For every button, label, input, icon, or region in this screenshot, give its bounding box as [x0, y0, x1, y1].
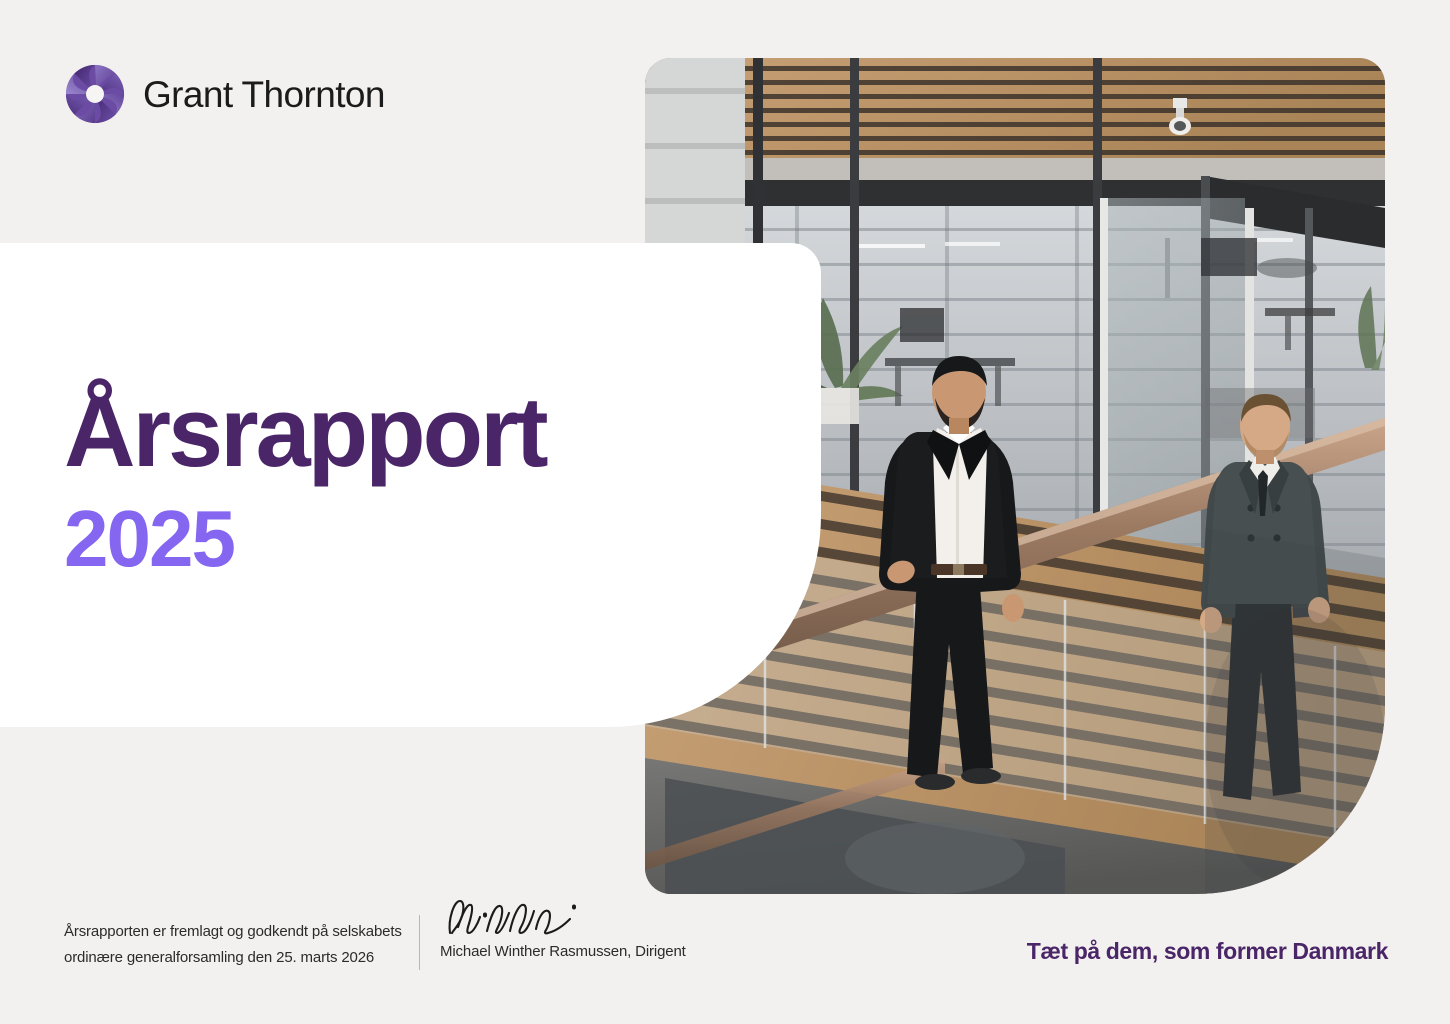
cover-page: Grant Thornton Årsrapport 2025 Årsrappor…: [0, 0, 1450, 1024]
brand-tagline: Tæt på dem, som former Danmark: [1027, 938, 1388, 965]
approval-statement: Årsrapporten er fremlagt og godkendt på …: [64, 919, 409, 972]
report-year: 2025: [64, 499, 684, 579]
approval-line-2: ordinære generalforsamling den 25. marts…: [64, 945, 409, 971]
cover-title-group: Årsrapport 2025: [64, 382, 684, 579]
brand-wordmark: Grant Thornton: [143, 76, 385, 113]
page-title: Årsrapport: [64, 382, 684, 481]
signatory-name: Michael Winther Rasmussen, Dirigent: [440, 941, 700, 964]
handwritten-signature-icon: [440, 893, 590, 938]
grant-thornton-swirl-icon: [64, 63, 126, 125]
footer-divider: [419, 915, 420, 970]
approval-line-1: Årsrapporten er fremlagt og godkendt på …: [64, 919, 409, 945]
signature-block: Michael Winther Rasmussen, Dirigent: [440, 893, 700, 964]
brand-logo: Grant Thornton: [64, 63, 385, 125]
